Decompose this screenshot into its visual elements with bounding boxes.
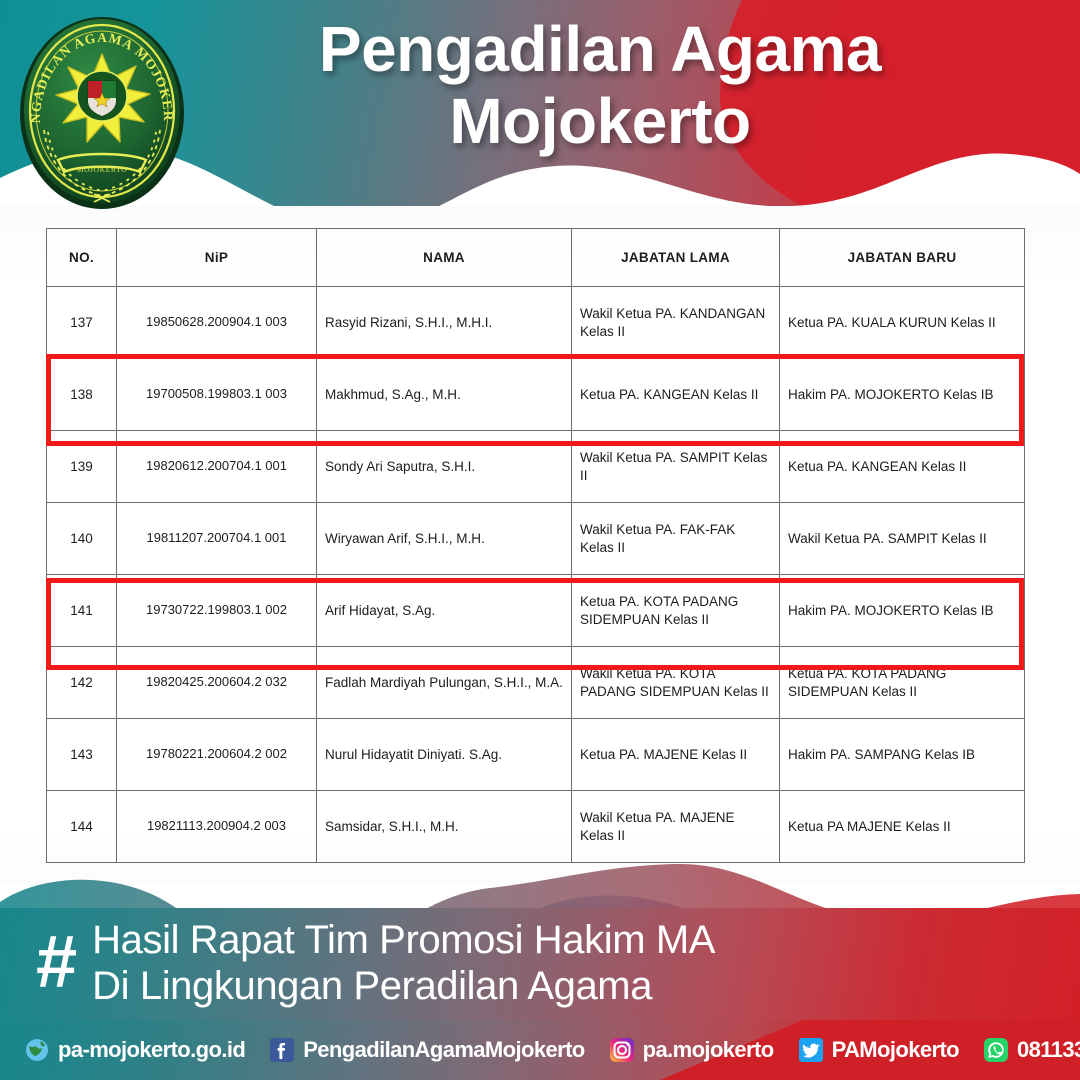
cell-jabatan-lama: Ketua PA. KANGEAN Kelas II	[572, 359, 780, 431]
col-header-nama: NAMA	[317, 229, 572, 287]
cell-no: 142	[47, 647, 117, 719]
col-header-jabatan-baru: JABATAN BARU	[780, 229, 1025, 287]
social-link-facebook[interactable]: PengadilanAgamaMojokerto	[269, 1037, 584, 1063]
social-link-label: pa-mojokerto.go.id	[58, 1037, 245, 1063]
social-link-twitter[interactable]: PAMojokerto	[798, 1037, 959, 1063]
promotion-table-wrapper: NO. NiP NAMA JABATAN LAMA JABATAN BARU 1…	[46, 228, 1024, 863]
promotion-table: NO. NiP NAMA JABATAN LAMA JABATAN BARU 1…	[46, 228, 1025, 863]
col-header-no: NO.	[47, 229, 117, 287]
twitter-icon	[798, 1037, 824, 1063]
social-links-list: pa-mojokerto.go.idPengadilanAgamaMojoker…	[0, 1020, 1080, 1080]
cell-nip: 19820425.200604.2 032	[117, 647, 317, 719]
table-header-row: NO. NiP NAMA JABATAN LAMA JABATAN BARU	[47, 229, 1025, 287]
cell-nama: Fadlah Mardiyah Pulungan, S.H.I., M.A.	[317, 647, 572, 719]
cell-jabatan-baru: Ketua PA. KOTA PADANG SIDEMPUAN Kelas II	[780, 647, 1025, 719]
table-row: 14419821113.200904.2 003Samsidar, S.H.I.…	[47, 791, 1025, 863]
hashtag-icon: #	[36, 929, 74, 994]
col-header-jabatan-lama: JABATAN LAMA	[572, 229, 780, 287]
cell-no: 137	[47, 287, 117, 359]
cell-no: 138	[47, 359, 117, 431]
cell-no: 140	[47, 503, 117, 575]
whatsapp-icon	[983, 1037, 1009, 1063]
page-footer: # Hasil Rapat Tim Promosi Hakim MA Di Li…	[0, 860, 1080, 1080]
table-row: 14019811207.200704.1 001Wiryawan Arif, S…	[47, 503, 1025, 575]
cell-no: 141	[47, 575, 117, 647]
cell-nip: 19780221.200604.2 002	[117, 719, 317, 791]
cell-jabatan-baru: Hakim PA. MOJOKERTO Kelas IB	[780, 575, 1025, 647]
page-title-line1: Pengadilan Agama	[190, 14, 1010, 86]
globe-icon	[24, 1037, 50, 1063]
cell-nip: 19811207.200704.1 001	[117, 503, 317, 575]
cell-jabatan-lama: Wakil Ketua PA. FAK-FAK Kelas II	[572, 503, 780, 575]
social-link-label: pa.mojokerto	[643, 1037, 774, 1063]
table-body: 13719850628.200904.1 003Rasyid Rizani, S…	[47, 287, 1025, 863]
slogan-line1: Hasil Rapat Tim Promosi Hakim MA	[92, 918, 715, 964]
social-link-label: 08113337775	[1017, 1037, 1080, 1063]
cell-jabatan-lama: Wakil Ketua PA. KANDANGAN Kelas II	[572, 287, 780, 359]
cell-jabatan-baru: Ketua PA MAJENE Kelas II	[780, 791, 1025, 863]
page-title-line2: Mojokerto	[190, 86, 1010, 158]
instagram-icon	[609, 1037, 635, 1063]
slogan-line2: Di Lingkungan Peradilan Agama	[92, 964, 715, 1010]
social-link-whatsapp[interactable]: 08113337775	[983, 1037, 1080, 1063]
cell-jabatan-baru: Wakil Ketua PA. SAMPIT Kelas II	[780, 503, 1025, 575]
table-row: 14319780221.200604.2 002Nurul Hidayatit …	[47, 719, 1025, 791]
seal-icon: PENGADILAN AGAMA MOJOKERTO MOJOKERTO	[14, 12, 190, 214]
table-row: 14119730722.199803.1 002Arif Hidayat, S.…	[47, 575, 1025, 647]
svg-text:MOJOKERTO: MOJOKERTO	[77, 165, 127, 174]
cell-nama: Makhmud, S.Ag., M.H.	[317, 359, 572, 431]
cell-nama: Sondy Ari Saputra, S.H.I.	[317, 431, 572, 503]
social-link-globe[interactable]: pa-mojokerto.go.id	[24, 1037, 245, 1063]
cell-nip: 19850628.200904.1 003	[117, 287, 317, 359]
cell-nip: 19820612.200704.1 001	[117, 431, 317, 503]
cell-nip: 19700508.199803.1 003	[117, 359, 317, 431]
social-link-label: PengadilanAgamaMojokerto	[303, 1037, 584, 1063]
table-row: 13719850628.200904.1 003Rasyid Rizani, S…	[47, 287, 1025, 359]
scanned-document-sheet: NO. NiP NAMA JABATAN LAMA JABATAN BARU 1…	[0, 206, 1080, 886]
cell-jabatan-lama: Ketua PA. MAJENE Kelas II	[572, 719, 780, 791]
cell-nama: Arif Hidayat, S.Ag.	[317, 575, 572, 647]
cell-jabatan-baru: Hakim PA. SAMPANG Kelas IB	[780, 719, 1025, 791]
cell-jabatan-lama: Wakil Ketua PA. KOTA PADANG SIDEMPUAN Ke…	[572, 647, 780, 719]
cell-jabatan-baru: Hakim PA. MOJOKERTO Kelas IB	[780, 359, 1025, 431]
cell-nip: 19730722.199803.1 002	[117, 575, 317, 647]
cell-jabatan-lama: Wakil Ketua PA. SAMPIT Kelas II	[572, 431, 780, 503]
cell-jabatan-baru: Ketua PA. KUALA KURUN Kelas II	[780, 287, 1025, 359]
social-link-instagram[interactable]: pa.mojokerto	[609, 1037, 774, 1063]
court-seal-logo: PENGADILAN AGAMA MOJOKERTO MOJOKERTO	[14, 12, 190, 214]
cell-no: 139	[47, 431, 117, 503]
cell-nip: 19821113.200904.2 003	[117, 791, 317, 863]
slogan-text: Hasil Rapat Tim Promosi Hakim MA Di Ling…	[92, 918, 715, 1009]
col-header-nip: NiP	[117, 229, 317, 287]
table-row: 13819700508.199803.1 003Makhmud, S.Ag., …	[47, 359, 1025, 431]
cell-jabatan-lama: Wakil Ketua PA. MAJENE Kelas II	[572, 791, 780, 863]
cell-nama: Rasyid Rizani, S.H.I., M.H.I.	[317, 287, 572, 359]
cell-jabatan-lama: Ketua PA. KOTA PADANG SIDEMPUAN Kelas II	[572, 575, 780, 647]
slogan-banner: # Hasil Rapat Tim Promosi Hakim MA Di Li…	[0, 908, 1080, 1020]
table-row: 13919820612.200704.1 001Sondy Ari Saputr…	[47, 431, 1025, 503]
social-footer: pa-mojokerto.go.idPengadilanAgamaMojoker…	[0, 1020, 1080, 1080]
cell-nama: Wiryawan Arif, S.H.I., M.H.	[317, 503, 572, 575]
cell-nama: Nurul Hidayatit Diniyati. S.Ag.	[317, 719, 572, 791]
cell-jabatan-baru: Ketua PA. KANGEAN Kelas II	[780, 431, 1025, 503]
table-head: NO. NiP NAMA JABATAN LAMA JABATAN BARU	[47, 229, 1025, 287]
cell-no: 143	[47, 719, 117, 791]
social-link-label: PAMojokerto	[832, 1037, 959, 1063]
page-title: Pengadilan Agama Mojokerto	[190, 14, 1010, 157]
cell-no: 144	[47, 791, 117, 863]
table-row: 14219820425.200604.2 032Fadlah Mardiyah …	[47, 647, 1025, 719]
facebook-icon	[269, 1037, 295, 1063]
cell-nama: Samsidar, S.H.I., M.H.	[317, 791, 572, 863]
